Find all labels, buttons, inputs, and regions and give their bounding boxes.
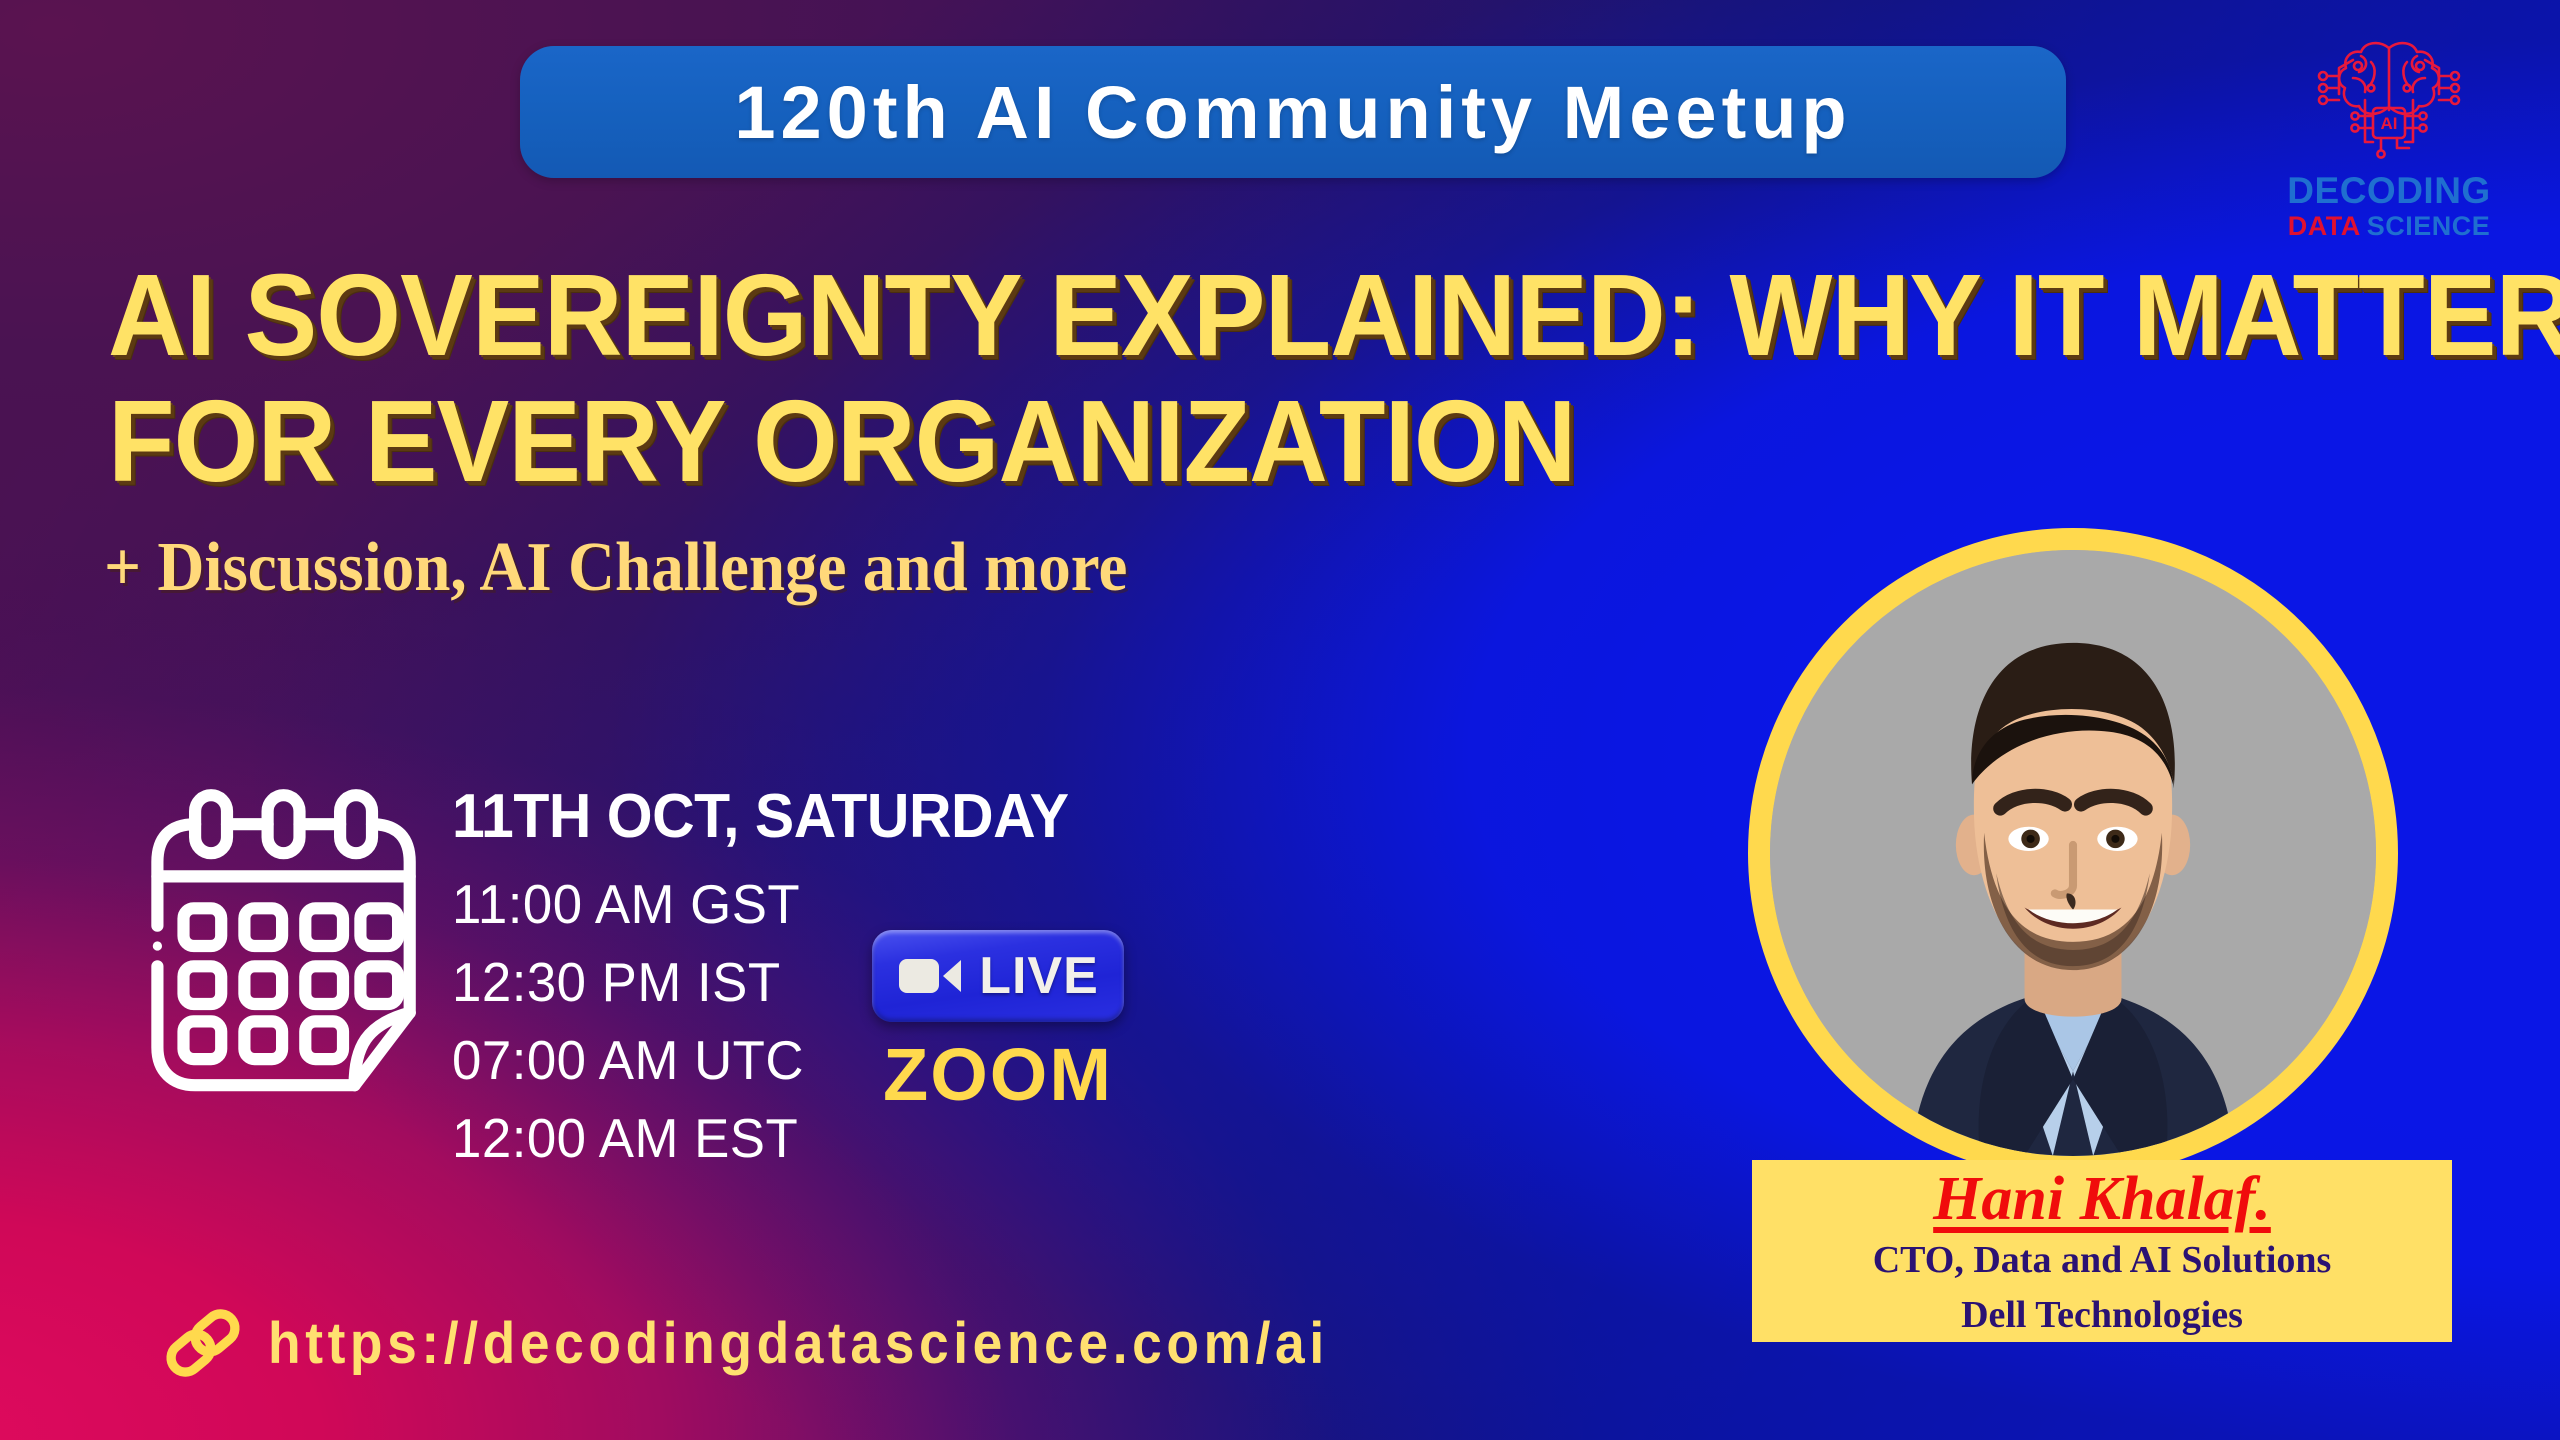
video-camera-icon xyxy=(897,951,967,1001)
brand-logo: AI DECODING DATASCIENCE xyxy=(2264,30,2514,240)
calendar-icon xyxy=(140,786,430,1106)
logo-word-data: DATA xyxy=(2288,211,2361,241)
event-poster: 120th AI Community Meetup xyxy=(0,0,2560,1440)
speaker-role: CTO, Data and AI Solutions xyxy=(1873,1236,2332,1285)
speaker-portrait xyxy=(1770,550,2376,1156)
platform-block: LIVE ZOOM xyxy=(872,930,1124,1112)
event-title: AI SOVEREIGNTY EXPLAINED: WHY IT MATTERS… xyxy=(108,252,2468,505)
event-title-line-1: AI SOVEREIGNTY EXPLAINED: WHY IT MATTERS xyxy=(108,252,2326,378)
event-date: 11TH OCT, SATURDAY xyxy=(452,784,1069,849)
speaker-photo-frame xyxy=(1748,528,2398,1178)
meetup-banner: 120th AI Community Meetup xyxy=(520,46,2066,178)
speaker-name: Hani Khalaf. xyxy=(1933,1168,2271,1230)
logo-word-decoding: DECODING xyxy=(2287,172,2490,209)
website-url[interactable]: https://decodingdatascience.com/ai xyxy=(268,1310,1329,1377)
speaker-organization: Dell Technologies xyxy=(1961,1291,2243,1340)
event-subtitle: + Discussion, AI Challenge and more xyxy=(104,528,1127,608)
zoom-label: ZOOM xyxy=(883,1038,1113,1112)
ai-brain-circuit-icon: AI xyxy=(2309,30,2469,170)
meetup-banner-label: 120th AI Community Meetup xyxy=(734,70,1851,155)
logo-chip-label: AI xyxy=(2381,114,2398,133)
logo-wordmark-row: DATASCIENCE xyxy=(2288,213,2491,240)
live-label: LIVE xyxy=(979,950,1099,1002)
logo-word-science: SCIENCE xyxy=(2367,211,2491,241)
speaker-info-card: Hani Khalaf. CTO, Data and AI Solutions … xyxy=(1752,1160,2452,1342)
website-link[interactable]: https://decodingdatascience.com/ai xyxy=(160,1300,1421,1386)
event-title-line-2: FOR EVERY ORGANIZATION xyxy=(108,378,2326,504)
live-badge: LIVE xyxy=(872,930,1124,1022)
chain-link-icon xyxy=(160,1300,246,1386)
